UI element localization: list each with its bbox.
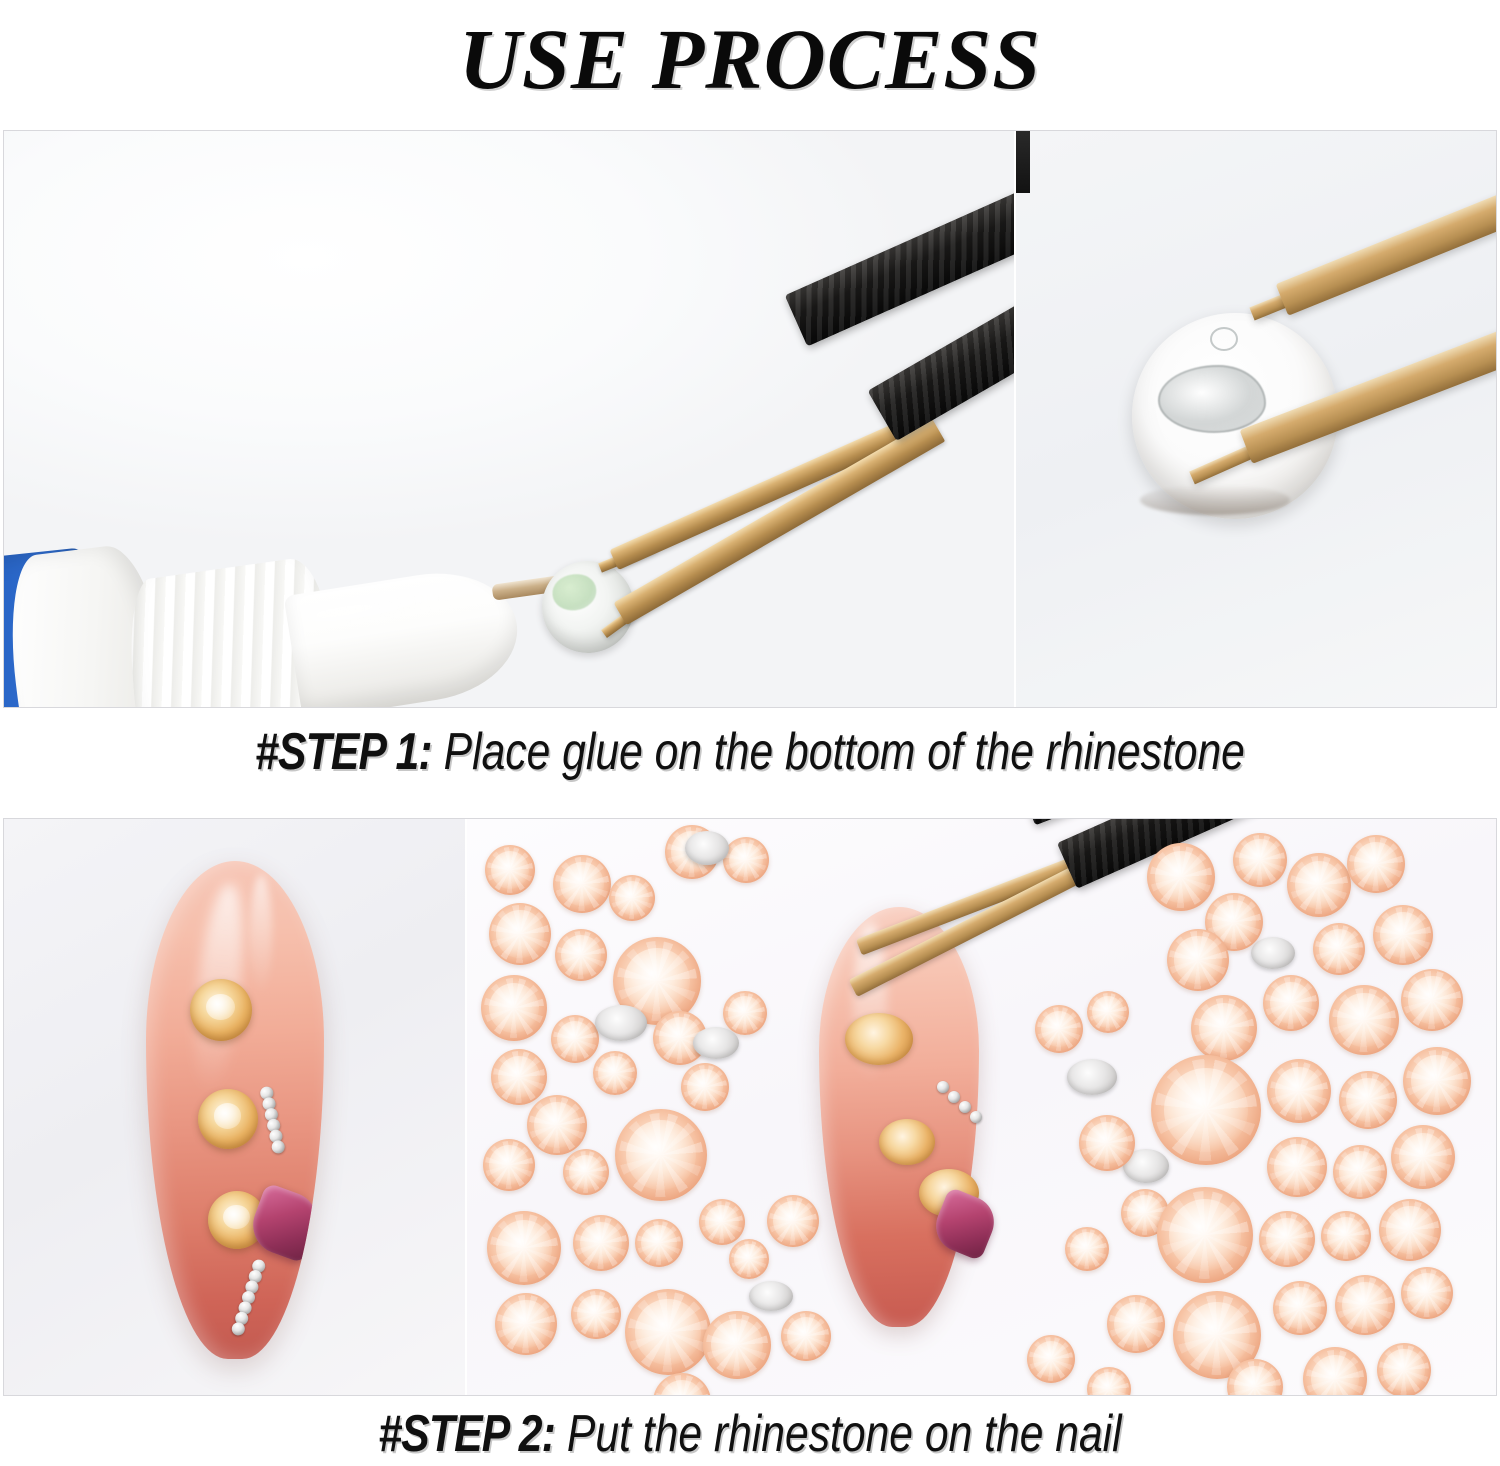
- rhinestone: [1151, 1055, 1261, 1165]
- rhinestone-glue-closeup-photo: [1014, 131, 1496, 707]
- rhinestone: [1321, 1211, 1371, 1261]
- rhinestone: [495, 1293, 557, 1355]
- rhinestone: [483, 1139, 535, 1191]
- rhinestone: [1287, 853, 1351, 917]
- rhinestone: [1329, 985, 1399, 1055]
- rhinestone: [635, 1219, 683, 1267]
- champagne-rhinestone: [198, 1089, 258, 1149]
- rhinestone: [1335, 1275, 1395, 1335]
- rhinestone: [491, 1049, 547, 1105]
- rhinestone: [1401, 969, 1463, 1031]
- rhinestone: [1333, 1145, 1387, 1199]
- rhinestone: [481, 975, 547, 1041]
- rhinestone: [723, 991, 767, 1035]
- rhinestone: [485, 845, 535, 895]
- rhinestone: [555, 929, 607, 981]
- glue-smear: [1158, 365, 1266, 433]
- rhinestone: [1379, 1199, 1441, 1261]
- rhinestone: [1027, 1335, 1075, 1383]
- rhinestone: [1339, 1071, 1397, 1129]
- rhinestone: [1147, 843, 1215, 911]
- rhinestone-flat-back: [1251, 937, 1295, 969]
- silver-bead: [970, 1111, 982, 1123]
- silver-bead-chain-lower: [230, 1259, 266, 1336]
- rhinestone: [615, 1109, 707, 1201]
- rhinestone: [1403, 1047, 1471, 1115]
- rhinestone: [1273, 1281, 1327, 1335]
- step-1-caption: #STEP 1: Place glue on the bottom of the…: [135, 722, 1365, 782]
- rhinestone: [1065, 1227, 1109, 1271]
- champagne-rhinestone: [190, 979, 252, 1041]
- rhinestone: [767, 1195, 819, 1247]
- glue-applicator-photo: [4, 131, 1014, 707]
- rhinestone: [1401, 1267, 1453, 1319]
- rhinestone: [563, 1149, 609, 1195]
- step-2-caption: #STEP 2: Put the rhinestone on the nail: [135, 1404, 1365, 1464]
- step-1-text: Place glue on the bottom of the rhinesto…: [432, 723, 1245, 781]
- rhinestone-placement-photo: [465, 819, 1496, 1395]
- step-2-label: #STEP 2:: [378, 1405, 555, 1463]
- silver-bead: [948, 1091, 960, 1103]
- rhinestone: [1267, 1137, 1327, 1197]
- finished-nail-photo: [4, 819, 465, 1395]
- rhinestone: [1259, 1211, 1315, 1267]
- step-2-photo-row: [3, 818, 1497, 1396]
- rhinestone: [1391, 1125, 1455, 1189]
- rhinestone: [681, 1063, 729, 1111]
- step-1-label: #STEP 1:: [255, 723, 432, 781]
- rhinestone: [527, 1095, 587, 1155]
- rhinestone: [729, 1239, 769, 1279]
- rhinestone: [625, 1289, 711, 1375]
- silver-bead: [271, 1139, 286, 1154]
- rhinestone: [1087, 991, 1129, 1033]
- rhinestone: [553, 855, 611, 913]
- glue-blob: [551, 572, 599, 612]
- rhinestone: [1035, 1005, 1083, 1053]
- page-title: USE PROCESS: [0, 0, 1500, 118]
- rhinestone: [781, 1311, 831, 1361]
- rhinestone: [489, 903, 551, 965]
- rhinestone-flat-back: [685, 831, 729, 865]
- rhinestone-flat-back: [693, 1027, 739, 1059]
- rhinestone: [593, 1051, 637, 1095]
- rhinestone: [487, 1211, 561, 1285]
- rhinestone: [723, 837, 769, 883]
- silver-bead: [937, 1081, 949, 1093]
- rhinestone-flat-back: [595, 1005, 647, 1041]
- rhinestone: [1347, 835, 1405, 893]
- rhinestone: [1377, 1343, 1431, 1395]
- rhinestone: [1167, 929, 1229, 991]
- step-2-text: Put the rhinestone on the nail: [555, 1405, 1122, 1463]
- rhinestone: [573, 1215, 629, 1271]
- rhinestone-flat-back: [749, 1281, 793, 1311]
- rhinestone: [1233, 833, 1287, 887]
- rhinestone-rim: [1140, 485, 1290, 515]
- rhinestone: [1313, 923, 1365, 975]
- rhinestone: [1267, 1059, 1331, 1123]
- rhinestone: [1373, 905, 1433, 965]
- rhinestone: [699, 1199, 745, 1245]
- rhinestone: [1157, 1187, 1253, 1283]
- rhinestone: [551, 1015, 599, 1063]
- glue-bubble: [1210, 327, 1238, 351]
- champagne-rhinestone: [845, 1013, 913, 1065]
- rhinestone: [571, 1289, 621, 1339]
- tweezer-grip-sliver: [1014, 131, 1030, 193]
- champagne-rhinestone: [879, 1119, 935, 1165]
- rhinestone-flat-back: [1067, 1059, 1117, 1095]
- rhinestone: [1107, 1295, 1165, 1353]
- rhinestone: [1263, 975, 1319, 1031]
- rhinestone: [703, 1311, 771, 1379]
- rhinestone: [609, 875, 655, 921]
- step-1-photo-row: [3, 130, 1497, 708]
- rhinestone: [1191, 995, 1257, 1061]
- rhinestone: [1079, 1115, 1135, 1171]
- nail-highlight-secondary: [250, 875, 272, 995]
- silver-bead-chain-upper: [259, 1086, 285, 1153]
- silver-bead: [959, 1101, 971, 1113]
